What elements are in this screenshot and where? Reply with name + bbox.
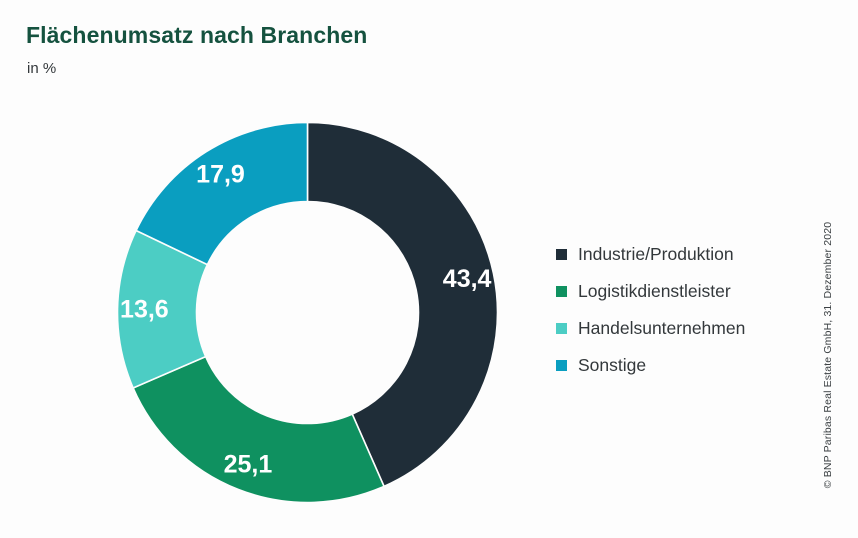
legend-item[interactable]: Industrie/Produktion — [556, 236, 806, 273]
donut-chart-figure: Flächenumsatz nach Branchen in % 43,425,… — [0, 0, 858, 538]
legend-color-swatch — [556, 286, 567, 297]
donut-slice[interactable] — [136, 123, 307, 265]
donut-slice-label: 13,6 — [120, 295, 169, 323]
legend-item-label: Industrie/Produktion — [578, 246, 734, 264]
legend-item[interactable]: Sonstige — [556, 347, 806, 384]
donut-slice-label: 43,4 — [443, 265, 492, 293]
chart-subtitle: in % — [27, 60, 56, 77]
page-title: Flächenumsatz nach Branchen — [26, 22, 367, 49]
donut-slice-group — [117, 123, 497, 503]
copyright-note: © BNP Paribas Real Estate GmbH, 31. Deze… — [822, 222, 834, 488]
donut-slice-label: 25,1 — [224, 450, 273, 478]
legend-color-swatch — [556, 323, 567, 334]
legend-item-label: Logistikdienstleister — [578, 283, 731, 301]
legend-color-swatch — [556, 360, 567, 371]
legend-item-label: Sonstige — [578, 357, 646, 375]
donut-slice-label: 17,9 — [196, 160, 245, 188]
legend-color-swatch — [556, 249, 567, 260]
legend-item[interactable]: Handelsunternehmen — [556, 310, 806, 347]
donut-slice[interactable] — [133, 357, 384, 503]
chart-legend: Industrie/ProduktionLogistikdienstleiste… — [556, 236, 806, 384]
legend-item-label: Handelsunternehmen — [578, 320, 745, 338]
legend-item[interactable]: Logistikdienstleister — [556, 273, 806, 310]
donut-svg: 43,425,113,617,9 — [117, 122, 498, 503]
donut-plot-area: 43,425,113,617,9 — [117, 122, 498, 503]
